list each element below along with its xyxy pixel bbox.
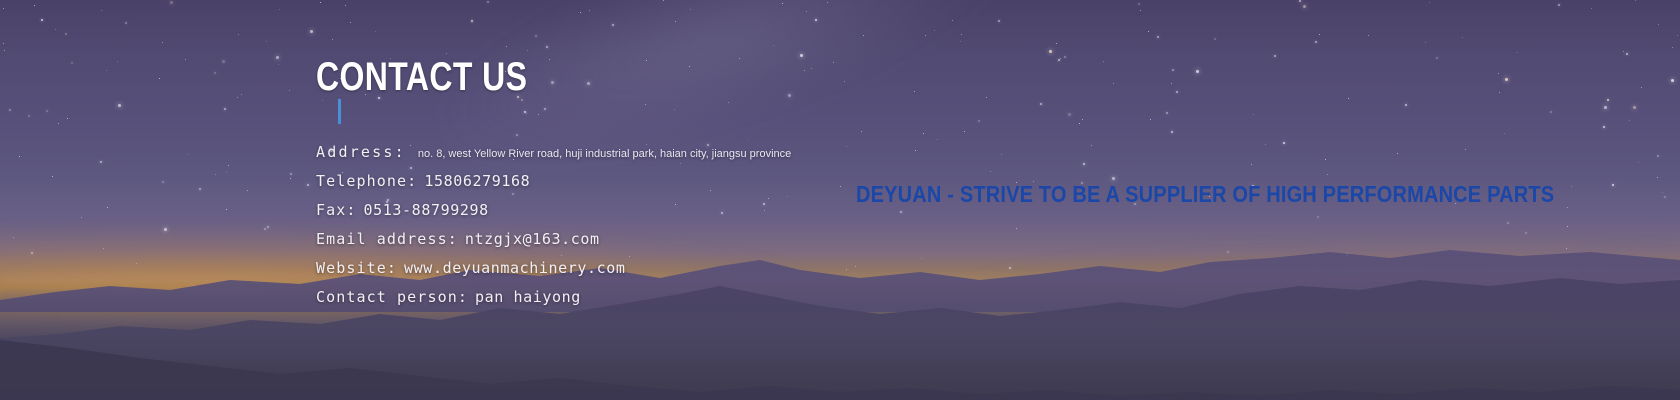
contact-value-fax: 0513-88799298	[364, 201, 489, 219]
contact-row-email: Email address: ntzgjx@163.com	[316, 230, 791, 259]
contact-value-contact-person: pan haiyong	[475, 288, 581, 306]
title-accent-bar	[338, 99, 341, 124]
contact-row-address: Address: no. 8, west Yellow River road, …	[316, 143, 791, 172]
contact-label-fax: Fax:	[316, 201, 357, 219]
contact-value-telephone[interactable]: 15806279168	[424, 172, 530, 190]
contact-row-telephone: Telephone: 15806279168	[316, 172, 791, 201]
contact-value-address: no. 8, west Yellow River road, huji indu…	[418, 148, 791, 160]
company-slogan: DEYUAN - STRIVE TO BE A SUPPLIER OF HIGH…	[856, 183, 1554, 206]
contact-value-email[interactable]: ntzgjx@163.com	[465, 230, 600, 248]
banner-content: CONTACT US Address: no. 8, west Yellow R…	[0, 0, 1680, 400]
contact-label-contact-person: Contact person:	[316, 288, 468, 306]
contact-row-website: Website: www.deyuanmachinery.com	[316, 259, 791, 288]
contact-row-fax: Fax: 0513-88799298	[316, 201, 791, 230]
page-title: CONTACT US	[316, 57, 527, 97]
contact-value-website[interactable]: www.deyuanmachinery.com	[404, 259, 626, 277]
contact-details-list: Address: no. 8, west Yellow River road, …	[316, 143, 791, 317]
contact-label-address: Address:	[316, 143, 406, 161]
contact-label-email: Email address:	[316, 230, 458, 248]
contact-us-banner: CONTACT US Address: no. 8, west Yellow R…	[0, 0, 1680, 400]
contact-label-telephone: Telephone:	[316, 172, 417, 190]
contact-label-website: Website:	[316, 259, 397, 277]
contact-row-contact-person: Contact person: pan haiyong	[316, 288, 791, 317]
